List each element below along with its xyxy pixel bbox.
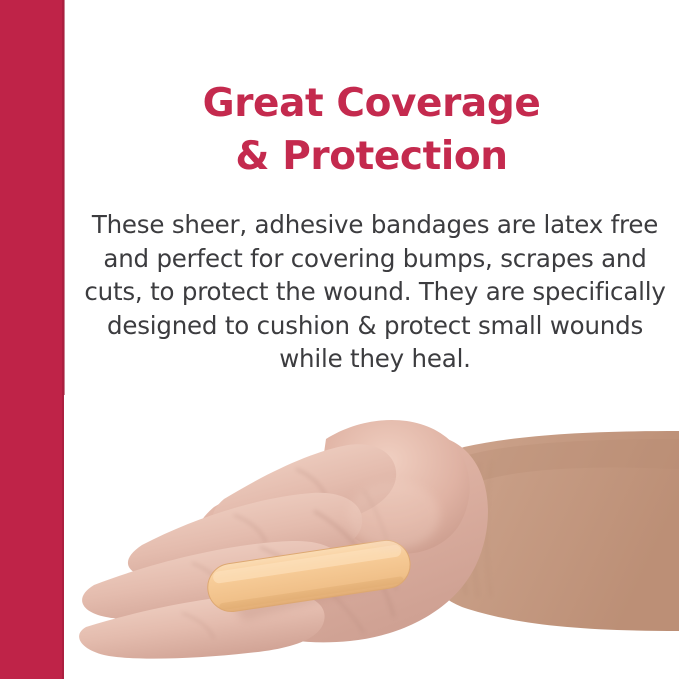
left-brand-bar bbox=[0, 0, 64, 679]
page-title: Great Coverage & Protection bbox=[64, 76, 679, 184]
page-title-line-1: Great Coverage bbox=[64, 76, 679, 131]
hand-with-bandage-illustration bbox=[64, 395, 679, 679]
product-photo bbox=[64, 395, 679, 679]
palm-highlight bbox=[348, 481, 440, 549]
promo-canvas: Great Coverage & Protection These sheer,… bbox=[0, 0, 679, 679]
body-description: These sheer, adhesive bandages are latex… bbox=[78, 208, 672, 376]
page-title-line-2: & Protection bbox=[64, 129, 679, 184]
